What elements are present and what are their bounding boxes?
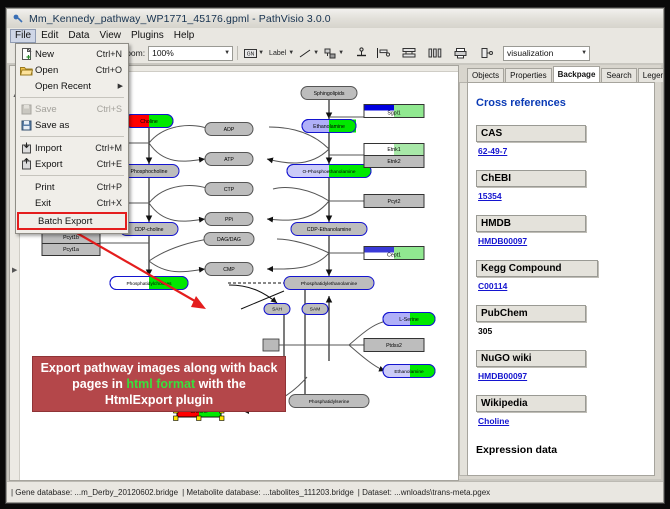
menu-item-label: Save [35,104,97,115]
node-label: O-Phosphoethanolamine [302,169,355,175]
menu-item-save-as[interactable]: Save as [16,117,128,133]
xref-link[interactable]: Choline [478,416,509,426]
node-label: Pcyt1b [63,235,79,241]
menu-item-new[interactable]: New Ctrl+N [16,46,128,62]
menu-separator [20,175,124,176]
node-label: PPi [225,217,233,223]
tab-backpage[interactable]: Backpage [553,66,601,82]
distribute-icon[interactable] [428,46,442,60]
node-o-phosphoethanolamine[interactable]: O-Phosphoethanolamine [287,165,371,178]
chevron-down-icon: ▼ [224,50,230,56]
menu-item-label: Import [35,143,95,154]
anchor-icon[interactable] [354,46,368,60]
node-adp[interactable]: ADP [205,123,253,136]
node-choline[interactable]: Choline [125,115,173,128]
menu-item-accelerator: Ctrl+O [96,65,128,75]
backpage-content: Cross references CAS 62-49-7 ChEBI 15354… [467,82,655,476]
node-label: Pcyt2 [388,199,401,205]
node-label: ADP [224,127,235,133]
expression-data-title: Expression data [476,444,654,456]
xref-source-label: PubChem [476,305,586,322]
annotation-line-2a: pages in [72,377,126,391]
menu-help[interactable]: Help [169,29,200,43]
node-label: Etnk2 [387,159,400,165]
menu-separator [20,97,124,98]
node-sah[interactable]: SAH [264,304,290,315]
menu-item-label: Exit [35,198,97,209]
annotation-callout: Export pathway images along with back pa… [32,356,286,412]
line-icon[interactable] [298,46,312,60]
xref-source-label: HMDB [476,215,586,232]
pathvisio-window: Mm_Kennedy_pathway_WP1771_45176.gpml - P… [6,8,664,503]
xref-source-label: ChEBI [476,170,586,187]
menu-item-accelerator: Ctrl+S [97,104,128,114]
label-dropdown-icon[interactable]: ▼ [288,50,294,56]
label-button[interactable]: Label [267,50,288,57]
node-cdp-ethanolamine[interactable]: CDP-Ethanolamine [291,223,367,236]
menu-item-label: Batch Export [38,216,119,227]
node-label: Ethanolamine [394,369,424,375]
window-title: Mm_Kennedy_pathway_WP1771_45176.gpml - P… [29,13,331,25]
print-icon[interactable] [454,46,468,60]
tab-objects[interactable]: Objects [467,68,504,82]
datanode-icon[interactable]: GN [243,46,257,60]
node-pcyt2[interactable]: Pcyt2 [364,195,424,208]
menu-item-export[interactable]: Export Ctrl+E [16,156,128,172]
cross-references-title: Cross references [476,97,654,109]
menu-item-accelerator: Ctrl+M [95,143,128,153]
menu-item-import[interactable]: Import Ctrl+M [16,140,128,156]
xref-nugo-wiki: NuGO wiki HMDB00097 [468,350,654,393]
side-panel: Objects Properties Backpage Search Legen… [459,65,661,479]
node-label: DAG/DAG [217,237,241,243]
menu-item-label: New [35,49,96,60]
node-pcyt1a[interactable]: Pcyt1a [42,244,100,256]
save-icon [18,103,35,116]
tab-search[interactable]: Search [601,68,636,82]
blank-icon [18,181,35,194]
node-ethanolamine[interactable]: Ethanolamine [302,120,356,133]
status-gene-database: | Gene database: ...m_Derby_20120602.bri… [11,488,178,497]
xref-source-label: Kegg Compound [476,260,598,277]
annotation-line-1: Export pathway images along with back [41,361,278,375]
datanode-dropdown-icon[interactable]: ▼ [258,50,264,56]
annotation-line-3: HtmlExport plugin [105,393,213,407]
xref-cas: CAS 62-49-7 [468,125,654,168]
xref-wikipedia: Wikipedia Choline [468,395,654,438]
zoom-value: 100% [152,48,174,58]
align-icon[interactable] [376,46,390,60]
menu-item-exit[interactable]: Exit Ctrl+X [16,195,128,211]
xref-source-label: Wikipedia [476,395,586,412]
annotation-line-2b: with the [195,377,246,391]
node-dag[interactable]: DAG/DAG [204,233,254,246]
zoom-combo[interactable]: 100% ▼ [148,46,233,61]
node-phosphatidylserine[interactable]: Phosphatidylserine [289,395,369,408]
menu-data[interactable]: Data [63,29,94,43]
status-metabolite-database: | Metabolite database: ...tabolites_1112… [182,488,354,497]
menu-view[interactable]: View [94,29,126,43]
node-label: Sphingolipids [314,91,345,97]
node-sam[interactable]: SAM [302,304,328,315]
submenu-arrow-icon: ▶ [118,82,128,90]
node-label: Choline [140,119,158,125]
node-label: Phosphatidylethanolamine [301,281,358,287]
side-panel-tabs: Objects Properties Backpage Search Legen… [467,68,661,82]
menu-item-label: Open [35,65,96,76]
menubar: File Edit Data View Plugins Help [7,28,664,44]
node-ptdss2[interactable]: Ptdss2 [364,339,424,352]
node-etnk1[interactable]: Etnk1 [364,144,424,156]
xref-kegg-compound: Kegg Compound C00114 [468,260,654,303]
statusbar: | Gene database: ...m_Derby_20120602.bri… [7,481,663,502]
import-icon [18,142,35,155]
open-folder-icon [18,64,35,77]
menu-item-accelerator: Ctrl+X [97,198,128,208]
rail-arrow-right-icon[interactable]: ▶ [12,266,17,274]
xref-link[interactable]: 62-49-7 [478,146,507,156]
xref-source-label: NuGO wiki [476,350,586,367]
window-titlebar: Mm_Kennedy_pathway_WP1771_45176.gpml - P… [7,9,663,29]
status-dataset: | Dataset: ...wnloads\trans-meta.pgex [358,488,490,497]
node-etnk2[interactable]: Etnk2 [364,156,424,168]
menu-item-label: Save as [35,120,122,131]
node-cmp[interactable]: CMP [205,263,253,276]
file-menu-dropdown[interactable]: New Ctrl+N Open Ctrl+O Open Recent ▶ [15,43,129,234]
node-label: SAH [272,307,282,313]
menu-item-print[interactable]: Print Ctrl+P [16,179,128,195]
node-atp[interactable]: ATP [205,153,253,166]
menu-item-label: Export [35,159,97,170]
toolbar-separator [237,46,238,60]
menu-item-accelerator: Ctrl+N [96,49,128,59]
menu-item-open-recent[interactable]: Open Recent ▶ [16,78,128,94]
xref-source-label: CAS [476,125,586,142]
annotation-text: Export pathway images along with back pa… [35,360,284,408]
menu-item-label: Open Recent [35,81,118,92]
visualization-value: visualization [507,48,553,58]
node-label: Sgpl1 [387,110,400,116]
xref-link[interactable]: 15354 [478,191,502,201]
xref-link[interactable]: C00114 [478,281,507,291]
node-label: Ptdss2 [386,343,402,349]
node-ppi[interactable]: PPi [205,213,253,226]
node-sgpl1[interactable]: Sgpl1 [364,105,424,118]
interaction-dropdown-icon[interactable]: ▼ [338,50,344,56]
menu-edit[interactable]: Edit [36,29,63,43]
node-label: Phosphatidylserine [309,399,350,405]
visualization-combo[interactable]: visualization ▼ [503,46,590,61]
blank-icon [18,197,35,210]
node-phosphatidylcholines[interactable]: Phosphatidylcholines [110,277,188,290]
menu-item-label: Print [35,182,97,193]
node-label: ATP [224,157,234,163]
node-label: Phosphatidylcholines [126,281,172,287]
chevron-down-icon: ▼ [581,50,587,56]
node-label: Ethanolamine [313,124,345,130]
node-label: Cept1 [387,252,401,258]
menu-item-accelerator: Ctrl+E [97,159,128,169]
menu-item-batch-export[interactable]: Batch Export [17,212,127,230]
new-file-icon [18,48,35,61]
xref-link[interactable]: HMDB00097 [478,371,527,381]
xref-chebi: ChEBI 15354 [468,170,654,213]
node-label: SAM [310,307,320,313]
node-phosphatidylethanolamine[interactable]: Phosphatidylethanolamine [284,277,374,290]
pathvisio-app-icon [12,13,24,25]
blank-icon [18,80,35,93]
menu-file[interactable]: File [10,29,36,43]
node-label: CDP-choline [134,227,163,233]
menu-item-open[interactable]: Open Ctrl+O [16,62,128,78]
layout-icon[interactable] [480,46,494,60]
node-sphingolipids[interactable]: Sphingolipids [301,87,357,100]
node-label: Etnk1 [387,147,400,153]
node-ethanolamine-2[interactable]: Ethanolamine [383,365,436,378]
xref-hmdb: HMDB HMDB00097 [468,215,654,258]
tab-legend[interactable]: Legend [638,68,664,82]
node-label: Pcyt1a [63,247,79,253]
export-icon [18,158,35,171]
node-label: Phosphocholine [131,169,168,175]
node-label: CDP-Ethanolamine [307,227,352,233]
node-label: CMP [223,267,235,273]
xref-link[interactable]: HMDB00097 [478,236,527,246]
menu-item-accelerator: Ctrl+P [97,182,128,192]
menu-item-save: Save Ctrl+S [16,101,128,117]
node-l-serine[interactable]: L-Serine [383,313,436,326]
menu-plugins[interactable]: Plugins [126,29,169,43]
node-cept1[interactable]: Cept1 [364,247,424,260]
blank-icon [21,215,38,228]
line-dropdown-icon[interactable]: ▼ [313,50,319,56]
menu-separator [20,136,124,137]
xref-pubchem: PubChem 305 [468,305,654,348]
svg-text:GN: GN [246,51,254,57]
node-label: L-Serine [399,317,419,323]
tab-properties[interactable]: Properties [505,68,551,82]
annotation-highlight: html format [126,377,195,391]
node-label: CTP [224,187,235,193]
screenshot-root: Mm_Kennedy_pathway_WP1771_45176.gpml - P… [0,0,670,509]
node-ctp[interactable]: CTP [205,183,253,196]
stack-icon[interactable] [402,46,416,60]
save-as-icon [18,119,35,132]
interaction-icon[interactable] [323,46,337,60]
xref-value: 305 [478,326,492,336]
